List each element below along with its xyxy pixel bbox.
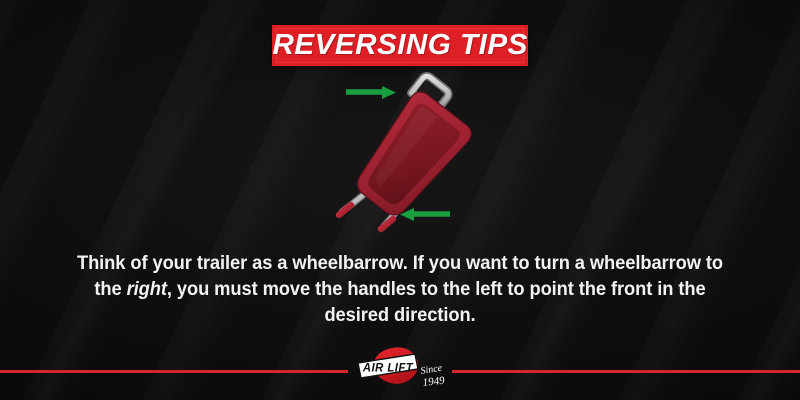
- logo-since-text: Since 1949: [420, 363, 446, 389]
- logo-brand-text: AIR LIFT: [362, 363, 414, 375]
- wheelbarrow-tub: [346, 88, 475, 225]
- logo-banner: AIR LIFT: [358, 354, 418, 378]
- handles-direction-arrow: [400, 208, 450, 221]
- svg-text:1949: 1949: [422, 375, 446, 389]
- body-text-emphasis: right: [127, 278, 167, 300]
- footer-rule-right: [452, 370, 800, 373]
- wheelbarrow-illustration: [320, 70, 490, 240]
- body-text-part2: , you must move the handles to the left …: [167, 278, 706, 326]
- air-lift-logo[interactable]: AIR LIFT Since 1949: [352, 345, 452, 391]
- grip-left: [339, 205, 351, 215]
- grip-right: [381, 219, 393, 229]
- footer-rule-left: [0, 370, 348, 373]
- infographic-canvas: REVERSING TIPS: [0, 0, 800, 400]
- title-banner: REVERSING TIPS: [272, 25, 528, 66]
- front-direction-arrow: [346, 86, 396, 99]
- body-paragraph: Think of your trailer as a wheelbarrow. …: [76, 250, 725, 328]
- page-title: REVERSING TIPS: [272, 29, 527, 62]
